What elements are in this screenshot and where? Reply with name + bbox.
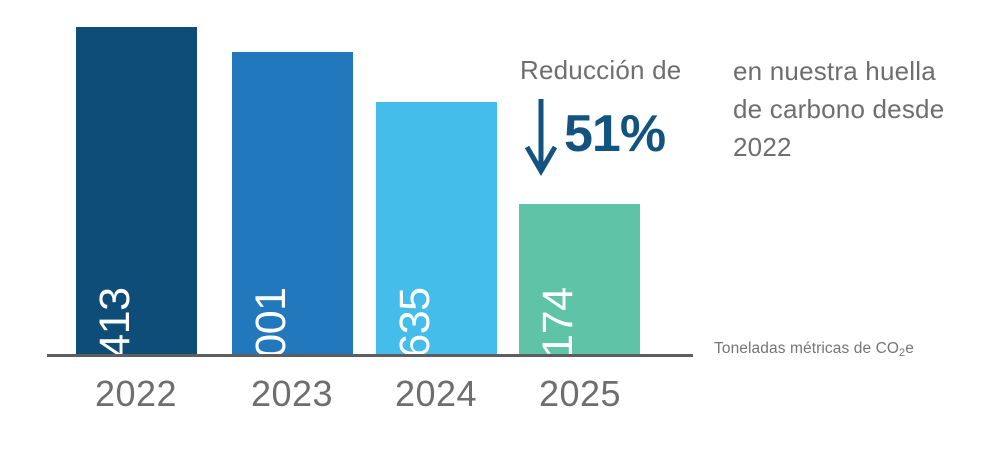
x-axis-line: [47, 354, 693, 357]
callout-percent-value: 51%: [564, 108, 665, 160]
down-arrow-icon: [524, 97, 558, 177]
callout-tail-text: en nuestra huella de carbono desde 2022: [733, 52, 963, 167]
callout-figure: 51%: [524, 97, 665, 177]
bar-2025: 3,174: [519, 204, 640, 354]
bar-2022: 6,413: [76, 27, 197, 354]
x-axis-label-2025: 2025: [500, 372, 660, 415]
bar-2023: 6,001: [232, 52, 353, 354]
chart-canvas: 6,413 6,001 5,635 3,174 2022 2023 2024 2…: [0, 0, 991, 451]
callout-lead-text: Reducción de: [520, 55, 681, 86]
axis-unit-caption-lead: Toneladas métricas de CO: [714, 340, 899, 357]
axis-unit-caption: Toneladas métricas de CO2e: [714, 340, 914, 358]
x-axis-label-2022: 2022: [56, 372, 216, 415]
axis-unit-caption-tail: e: [905, 340, 914, 357]
bar-2024: 5,635: [376, 102, 497, 354]
x-axis-label-2024: 2024: [356, 372, 516, 415]
x-axis-label-2023: 2023: [212, 372, 372, 415]
axis-unit-caption-subscript: 2: [899, 347, 905, 359]
